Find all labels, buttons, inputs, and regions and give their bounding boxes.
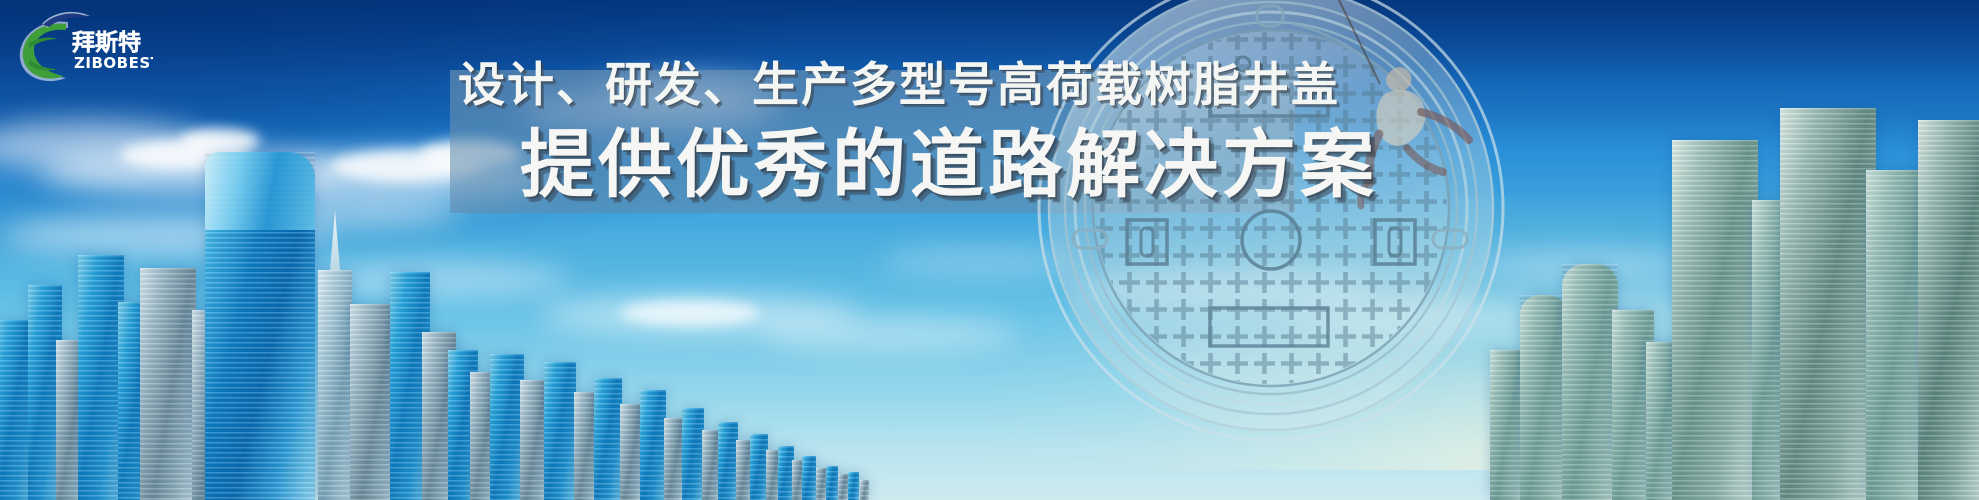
headline-line-2: 提供优秀的道路解决方案 bbox=[520, 128, 1378, 202]
logo-brand-en: ZIBOBEST bbox=[74, 54, 153, 72]
headline-group: 设计、研发、生产多型号高荷载树脂井盖 提供优秀的道路解决方案 bbox=[0, 0, 1979, 500]
logo-brand-cn: 拜斯特 bbox=[72, 29, 141, 56]
headline-line-1: 设计、研发、生产多型号高荷载树脂井盖 bbox=[458, 62, 1340, 109]
zibobest-logo[interactable]: 拜斯特 ZIBOBEST bbox=[8, 6, 153, 86]
hero-banner: 设计、研发、生产多型号高荷载树脂井盖 提供优秀的道路解决方案 拜斯特 ZIBOB… bbox=[0, 0, 1979, 500]
